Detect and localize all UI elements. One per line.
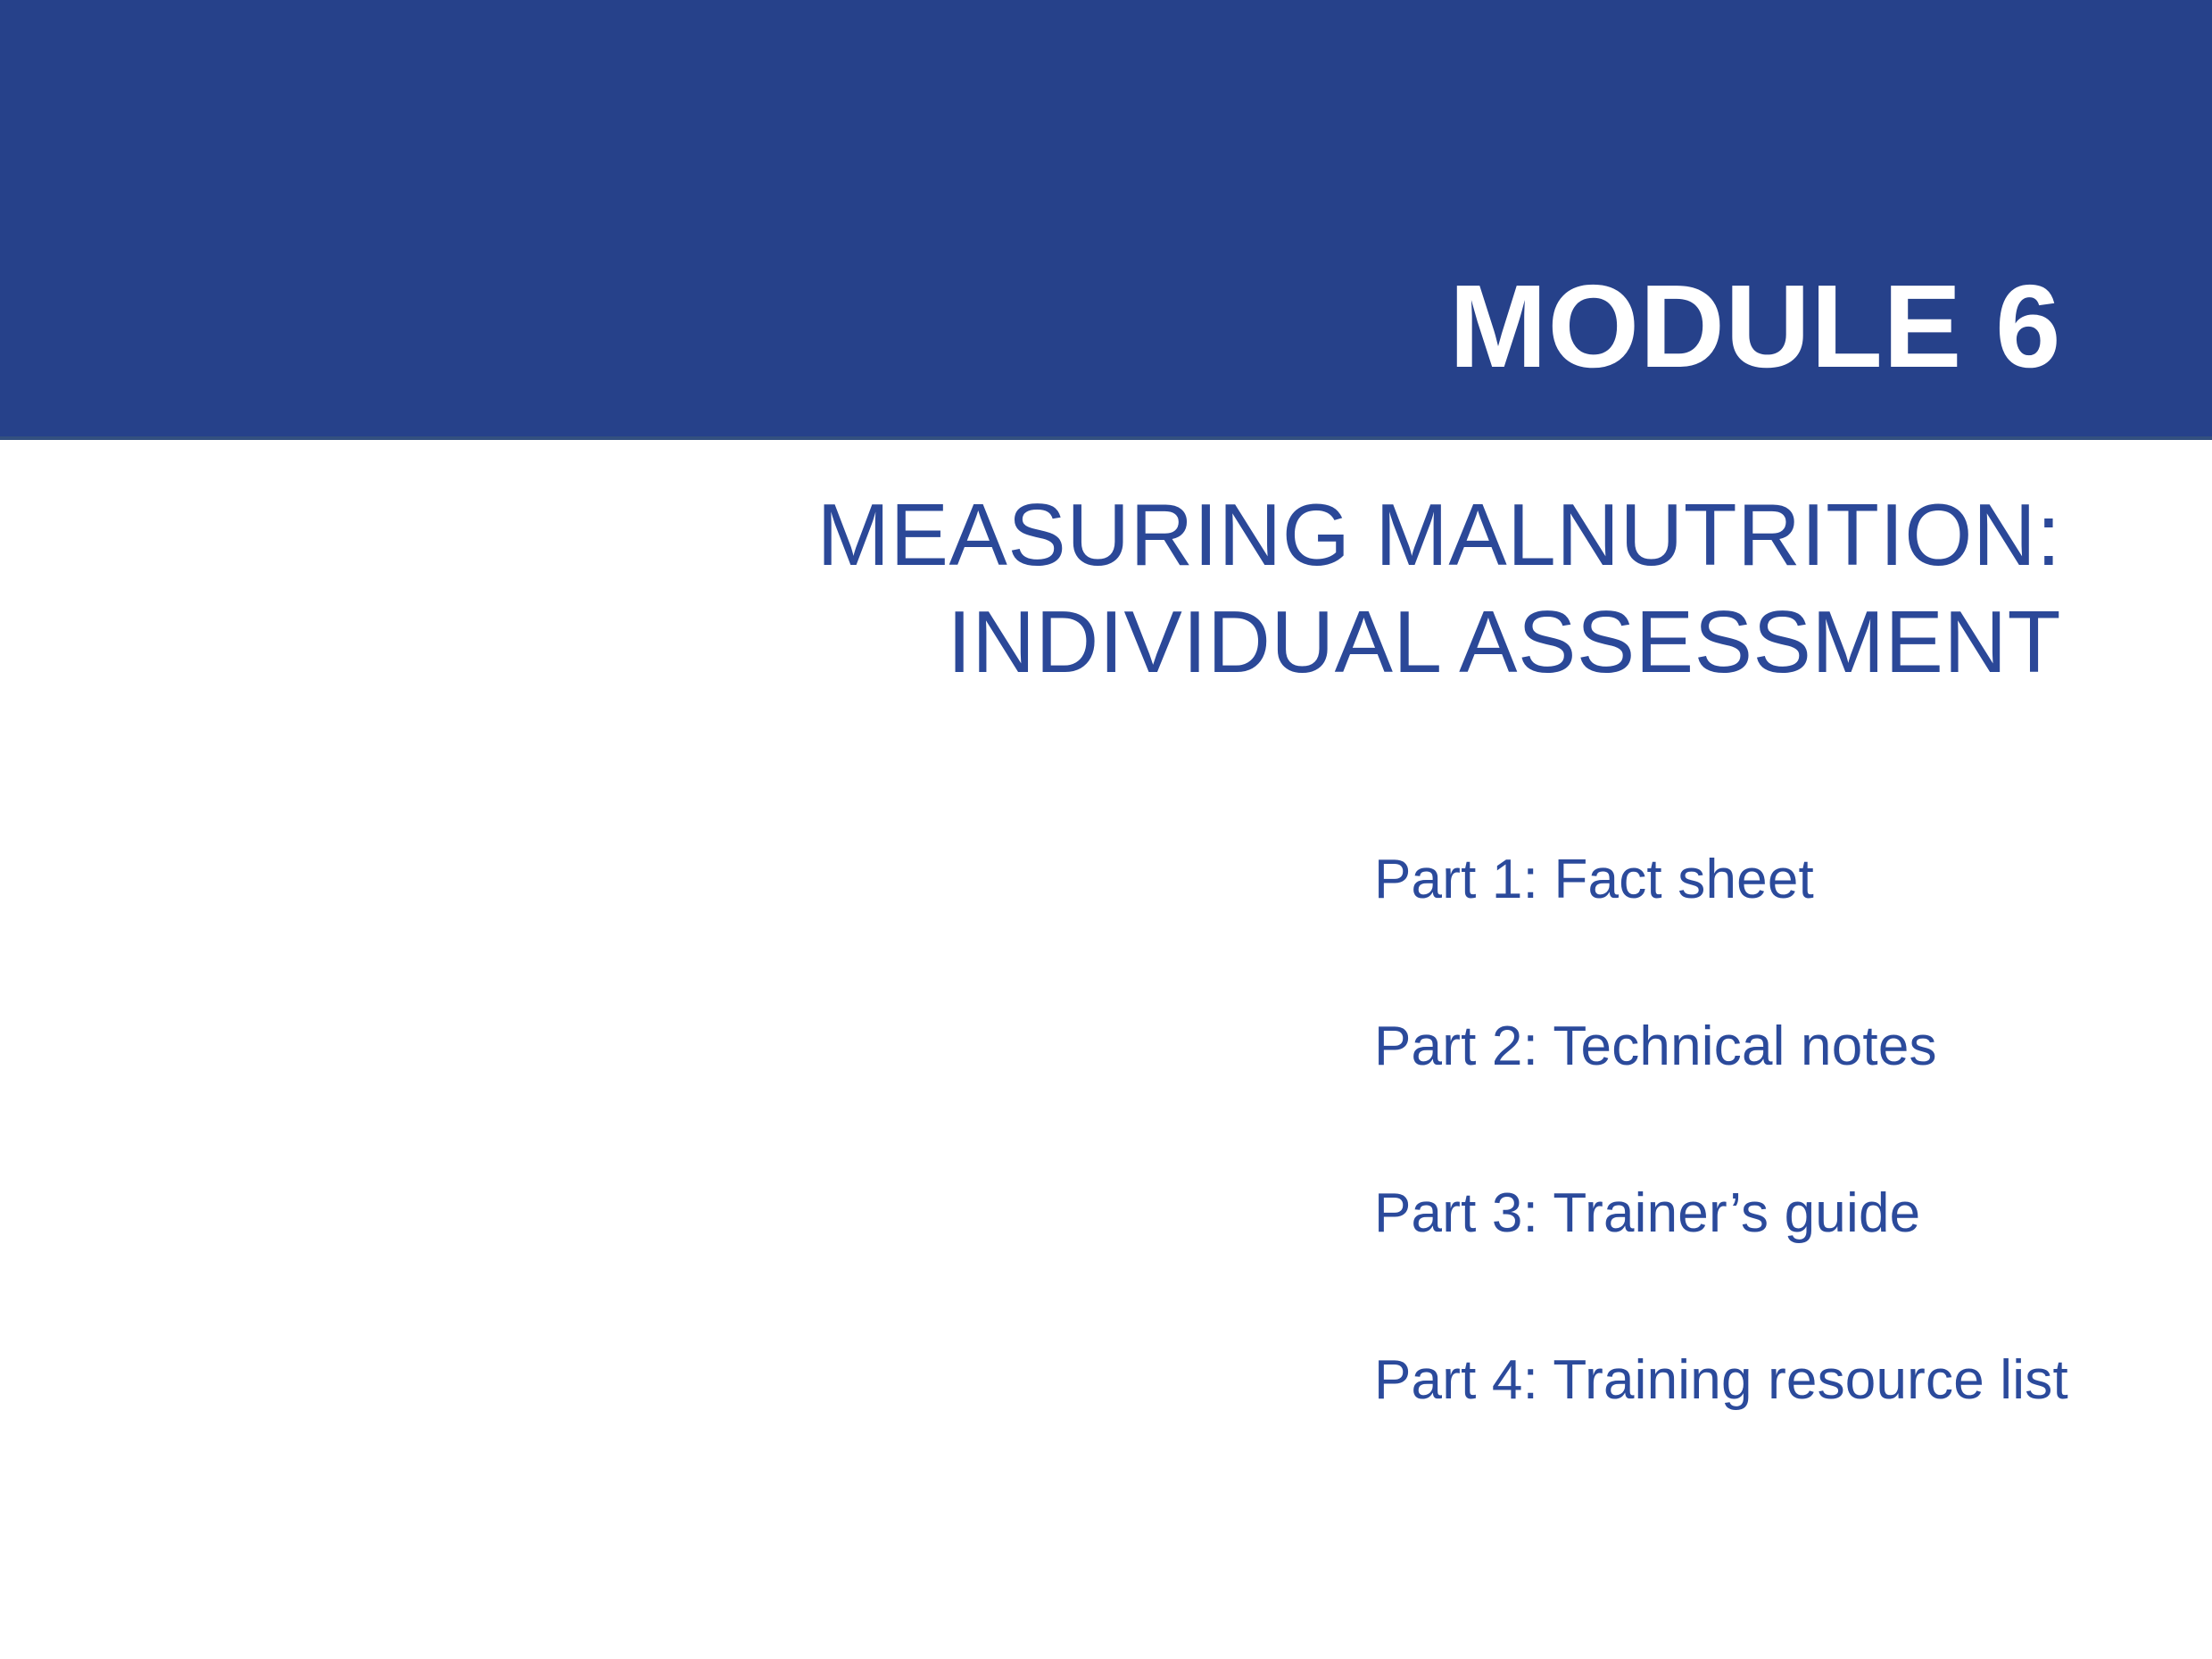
parts-list-item-3: Part 3: Trainer’s guide (1374, 1186, 2177, 1241)
parts-list: Part 1: Fact sheet Part 2: Technical not… (1374, 852, 2177, 1408)
parts-list-item-2: Part 2: Technical notes (1374, 1019, 2177, 1074)
module-subtitle-line-1: MEASURING MALNUTRITION: (634, 482, 2061, 589)
module-subtitle: MEASURING MALNUTRITION: INDIVIDUAL ASSES… (634, 482, 2061, 695)
banner-bottom-rule (0, 436, 2212, 440)
slide-cover-page: MODULE 6 MEASURING MALNUTRITION: INDIVID… (0, 0, 2212, 1659)
module-title: MODULE 6 (1449, 268, 2061, 386)
module-subtitle-line-2: INDIVIDUAL ASSESSMENT (634, 589, 2061, 696)
parts-list-item-1: Part 1: Fact sheet (1374, 852, 2177, 908)
title-banner: MODULE 6 (0, 0, 2212, 440)
parts-list-item-4: Part 4: Training resource list (1374, 1353, 2177, 1408)
